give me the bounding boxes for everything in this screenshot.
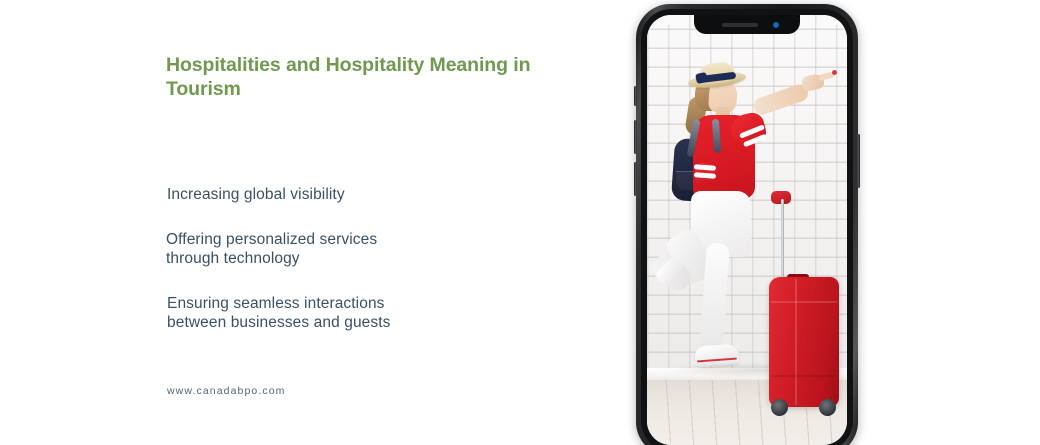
website-url[interactable]: www.canadabpo.com: [167, 385, 286, 397]
power-button[interactable]: [857, 134, 860, 188]
front-camera-icon: [773, 22, 779, 28]
list-item: Ensuring seamless interactions between b…: [167, 295, 566, 333]
suitcase-seam: [795, 279, 797, 405]
list-item: Increasing global visibility: [167, 186, 566, 205]
bullet-list: Increasing global visibility Offering pe…: [166, 186, 566, 333]
phone-notch: [694, 15, 800, 34]
suitcase-telescopic-handle: [781, 199, 784, 279]
suitcase-wheel: [819, 399, 836, 416]
pointing-arm: [752, 82, 810, 116]
page-title: Hospitalities and Hospitality Meaning in…: [166, 54, 566, 102]
silent-switch[interactable]: [634, 86, 637, 106]
phone-screen[interactable]: [647, 15, 847, 445]
earpiece-speaker-icon: [722, 23, 758, 27]
suitcase-rib: [771, 301, 837, 303]
suitcase-rib: [771, 375, 837, 377]
phone-mockup: [636, 4, 858, 445]
text-column: Hospitalities and Hospitality Meaning in…: [166, 0, 586, 445]
volume-up-button[interactable]: [634, 120, 637, 154]
slide-canvas: Hospitalities and Hospitality Meaning in…: [0, 0, 1040, 445]
suitcase-wheel: [771, 399, 788, 416]
list-item: Offering personalized services through t…: [166, 231, 566, 269]
fingernail: [832, 70, 837, 75]
red-suitcase: [769, 277, 839, 407]
screen-photo: [647, 15, 847, 445]
volume-down-button[interactable]: [634, 162, 637, 196]
